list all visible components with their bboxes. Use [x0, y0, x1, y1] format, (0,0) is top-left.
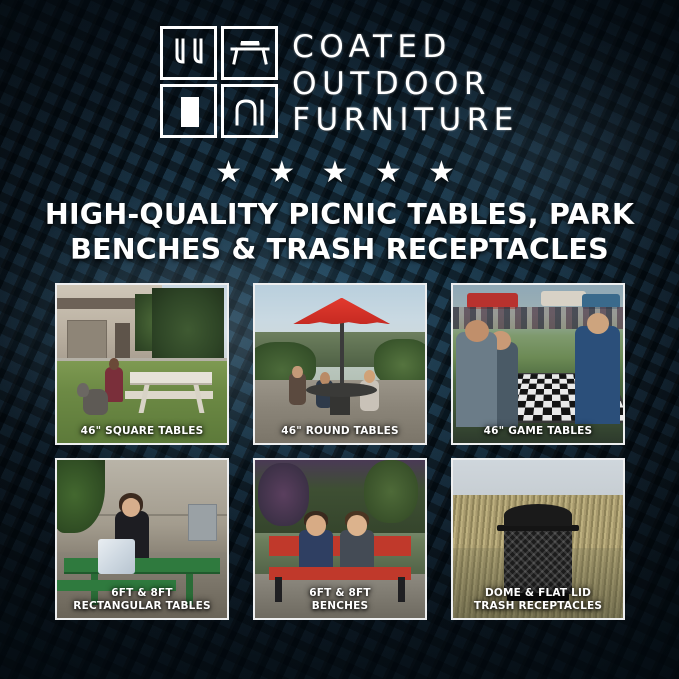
- brand-logo: COATED OUTDOOR FURNITURE: [0, 26, 679, 142]
- tile-caption: 46" SQUARE TABLES: [57, 421, 227, 443]
- tile-caption: 6FT & 8FT RECTANGULAR TABLES: [57, 583, 227, 618]
- park-bench-icon: [221, 26, 278, 80]
- headline-line-1: HIGH-QUALITY PICNIC TABLES, PARK: [28, 198, 651, 233]
- photo-square-tables: [57, 285, 227, 443]
- product-tile-grid: 46" SQUARE TABLES 46: [55, 283, 625, 620]
- tile-caption-line-2: TRASH RECEPTACLES: [455, 600, 621, 612]
- product-tile-rectangular-tables[interactable]: 6FT & 8FT RECTANGULAR TABLES: [55, 458, 229, 620]
- brand-wordmark: COATED OUTDOOR FURNITURE: [292, 26, 519, 140]
- tile-caption-line-1: DOME & FLAT LID: [455, 587, 621, 599]
- picnic-table-top-view-icon: [160, 26, 217, 80]
- product-tile-trash-receptacles[interactable]: DOME & FLAT LID TRASH RECEPTACLES: [451, 458, 625, 620]
- headline-line-2: BENCHES & TRASH RECEPTACLES: [28, 233, 651, 268]
- star-rating: ★ ★ ★ ★ ★: [0, 158, 679, 188]
- tile-caption-line-2: RECTANGULAR TABLES: [59, 600, 225, 612]
- tile-caption-line-1: 6FT & 8FT: [257, 587, 423, 599]
- tile-caption: 46" GAME TABLES: [453, 421, 623, 443]
- trash-receptacle-icon: [160, 84, 217, 138]
- tile-caption-line-1: 6FT & 8FT: [59, 587, 225, 599]
- tile-caption-line-2: BENCHES: [257, 600, 423, 612]
- brand-line-3: FURNITURE: [292, 102, 519, 139]
- poster-content: COATED OUTDOOR FURNITURE ★ ★ ★ ★ ★ HIGH-…: [0, 0, 679, 679]
- photo-game-tables: [453, 285, 623, 443]
- photo-round-tables: [255, 285, 425, 443]
- brand-line-2: OUTDOOR: [292, 66, 519, 103]
- product-tile-game-tables[interactable]: 46" GAME TABLES: [451, 283, 625, 445]
- tile-caption: DOME & FLAT LID TRASH RECEPTACLES: [453, 583, 623, 618]
- tile-caption: 46" ROUND TABLES: [255, 421, 425, 443]
- arch-bench-icon: [221, 84, 278, 138]
- page-title: HIGH-QUALITY PICNIC TABLES, PARK BENCHES…: [0, 198, 679, 268]
- product-tile-benches[interactable]: 6FT & 8FT BENCHES: [253, 458, 427, 620]
- tile-caption: 6FT & 8FT BENCHES: [255, 583, 425, 618]
- product-tile-round-tables[interactable]: 46" ROUND TABLES: [253, 283, 427, 445]
- product-tile-square-tables[interactable]: 46" SQUARE TABLES: [55, 283, 229, 445]
- brand-line-1: COATED: [292, 29, 519, 66]
- poster-image: COATED OUTDOOR FURNITURE ★ ★ ★ ★ ★ HIGH-…: [0, 0, 679, 679]
- logo-mark: [160, 26, 278, 138]
